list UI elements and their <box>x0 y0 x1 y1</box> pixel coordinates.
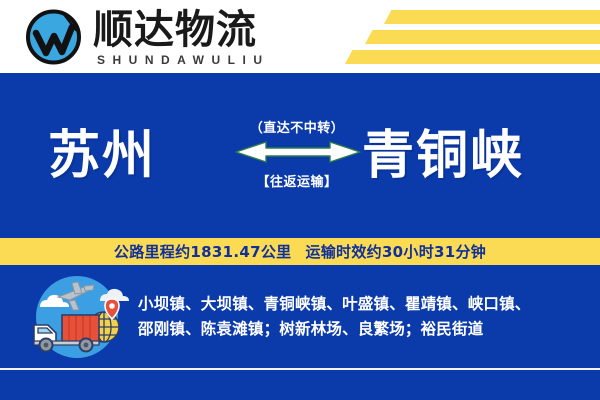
direct-note: （直达不中转） <box>232 121 362 137</box>
banner-header: 顺达物流 SHUNDAWULIU <box>0 0 600 73</box>
decorative-stripes <box>340 0 600 73</box>
duration-value: 运输时效约30小时31分钟 <box>305 243 486 261</box>
shunda-circle-w-logo-icon <box>22 5 85 68</box>
logistics-route-banner: 顺达物流 SHUNDAWULIU 苏州 （直达不中转） 【往返运输】 青铜峡 公… <box>0 0 600 400</box>
brand-logo: 顺达物流 SHUNDAWULIU <box>22 5 270 68</box>
brand-text: 顺达物流 SHUNDAWULIU <box>93 5 270 67</box>
coverage-section: 小坝镇、大坝镇、青铜峡镇、叶盛镇、瞿靖镇、峡口镇、 邵刚镇、陈袁滩镇；树新林场、… <box>0 265 600 368</box>
brand-name-en: SHUNDAWULIU <box>93 53 270 67</box>
destination-city: 青铜峡 <box>362 127 524 185</box>
distance-bar-content: 公路里程约1831.47公里运输时效约30小时31分钟 <box>114 241 486 262</box>
brand-name-cn: 顺达物流 <box>93 8 270 52</box>
distance-bar: 公路里程约1831.47公里运输时效约30小时31分钟 <box>0 238 600 265</box>
route-middle: （直达不中转） 【往返运输】 <box>232 121 362 191</box>
coverage-area-list: 小坝镇、大坝镇、青铜峡镇、叶盛镇、瞿靖镇、峡口镇、 邵刚镇、陈袁滩镇；树新林场、… <box>132 292 600 342</box>
roundtrip-note: 【往返运输】 <box>232 175 362 191</box>
stripe-3 <box>345 50 600 64</box>
distance-value: 公路里程约1831.47公里 <box>114 243 292 261</box>
origin-city: 苏州 <box>48 127 156 185</box>
double-headed-arrow-icon <box>232 141 362 171</box>
coverage-line-2: 邵刚镇、陈袁滩镇；树新林场、良繁场；裕民街道 <box>138 317 590 342</box>
banner-footer <box>0 370 600 400</box>
route-section: 苏州 （直达不中转） 【往返运输】 青铜峡 <box>0 73 600 238</box>
stripe-2 <box>365 30 600 44</box>
coverage-line-1: 小坝镇、大坝镇、青铜峡镇、叶盛镇、瞿靖镇、峡口镇、 <box>138 292 590 317</box>
stripe-1 <box>384 10 600 24</box>
logistics-truck-plane-globe-icon <box>22 273 132 361</box>
